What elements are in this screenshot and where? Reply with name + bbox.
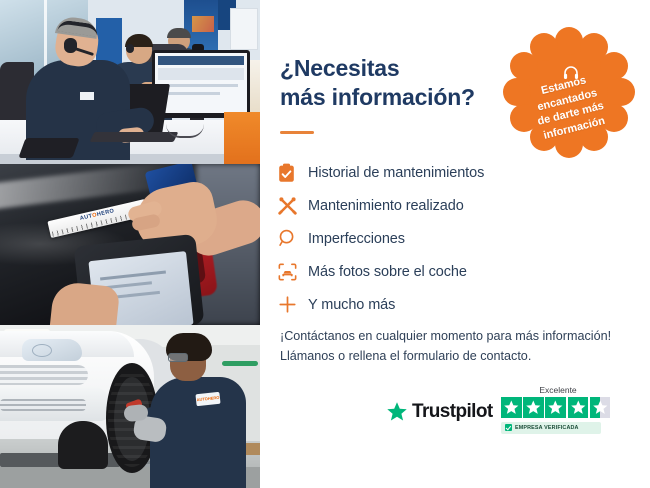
content-panel: ¿Necesitas más información? (260, 0, 650, 488)
trustpilot-star-icon (386, 401, 408, 423)
feature-label: Historial de mantenimientos (308, 165, 484, 181)
plus-icon (278, 294, 308, 316)
contact-text: ¡Contáctanos en cualquier momento para m… (280, 326, 640, 366)
feature-item-fotos: Más fotos sobre el coche (278, 255, 638, 288)
feature-label: Más fotos sobre el coche (308, 264, 467, 280)
feature-list: Historial de mantenimientos Mantenimient… (278, 156, 638, 321)
title-underline-rule (280, 131, 314, 134)
trustpilot-logo: Trustpilot (386, 401, 493, 423)
feature-label: Imperfecciones (308, 231, 405, 247)
page-title-line1: ¿Necesitas (280, 55, 399, 81)
promo-card: AUTOHERO AUTOHERO (0, 0, 650, 488)
trustpilot-wordmark: Trustpilot (412, 401, 493, 423)
clipboard-check-icon (278, 162, 308, 184)
trustpilot-stars (501, 397, 636, 418)
magnifier-icon (278, 228, 308, 250)
star-4 (568, 397, 589, 418)
photo-collage: AUTOHERO AUTOHERO (0, 0, 260, 488)
contact-line2: Llámanos o rellena el formulario de cont… (280, 346, 640, 366)
call-center-agents-photo (0, 0, 260, 164)
verified-label: EMPRESA VERIFICADA (515, 425, 579, 431)
star-3 (545, 397, 566, 418)
promo-starburst-badge: Estamos encantados de darte más informac… (503, 26, 635, 158)
feature-item-mas: Y mucho más (278, 288, 638, 321)
page-title: ¿Necesitas más información? (280, 54, 510, 112)
star-5-half (590, 397, 611, 418)
page-title-line2: más información? (280, 84, 475, 110)
contact-line1: ¡Contáctanos en cualquier momento para m… (280, 326, 640, 346)
mechanic-wheel-photo: AUTOHERO (0, 325, 260, 488)
trustpilot-widget[interactable]: Trustpilot Excelente (386, 385, 636, 451)
car-focus-icon (278, 261, 308, 283)
check-icon (505, 424, 512, 431)
feature-label: Mantenimiento realizado (308, 198, 464, 214)
trustpilot-rating-label: Excelente (501, 385, 615, 395)
feature-label: Y mucho más (308, 297, 395, 313)
star-2 (523, 397, 544, 418)
car-inspection-ruler-photo: AUTOHERO (0, 164, 260, 325)
tools-cross-icon (278, 195, 308, 217)
feature-item-mantenimiento: Mantenimiento realizado (278, 189, 638, 222)
feature-item-imperfecciones: Imperfecciones (278, 222, 638, 255)
verified-company-badge: EMPRESA VERIFICADA (501, 422, 601, 435)
feature-item-historial: Historial de mantenimientos (278, 156, 638, 189)
star-1 (501, 397, 522, 418)
trustpilot-rating: Excelente (501, 385, 636, 434)
